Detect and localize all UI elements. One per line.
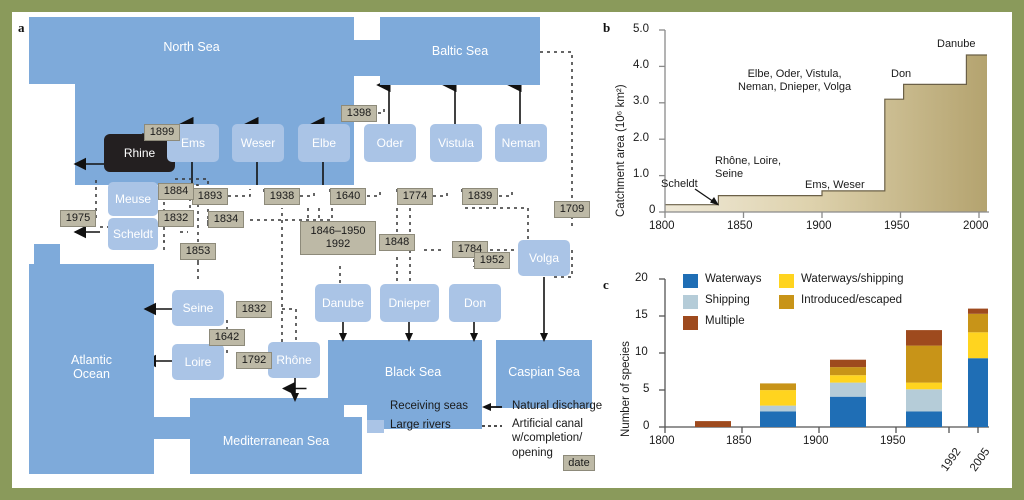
panel-a-diagram: a (12, 12, 597, 488)
sea-caspian-sea: Caspian Sea (496, 357, 592, 387)
panel-c-xtick-1900: 1900 (803, 435, 829, 447)
legend-label-natural-discharge: Natural discharge (512, 400, 602, 414)
panel-b-ytick-2: 2.0 (633, 132, 649, 144)
date-box-1938: 1938 (264, 188, 300, 205)
panel-c-xtick-1850: 1850 (726, 435, 752, 447)
date-box-1642: 1642 (209, 329, 245, 346)
panel-b-ytick-5: 5.0 (633, 23, 649, 35)
date-box-1893: 1893 (192, 188, 228, 205)
date-box-1853: 1853 (180, 243, 216, 260)
sea-black-sea: Black Sea (344, 357, 482, 387)
panel-b-ytick-0: 0 (649, 204, 655, 216)
legend-label-shipping: Shipping (705, 294, 750, 306)
panel-c-xtick-1950: 1950 (880, 435, 906, 447)
panel-b-xtick-2000: 2000 (963, 220, 989, 232)
panel-c-ytick-15: 15 (635, 309, 648, 321)
river-scheldt[interactable]: Scheldt (108, 218, 158, 250)
date-box-1899: 1899 (144, 124, 180, 141)
date-box-1848: 1848 (379, 234, 415, 251)
legend-swatch-receiving-seas (367, 401, 384, 414)
date-box-1709: 1709 (554, 201, 590, 218)
date-box-1640: 1640 (330, 188, 366, 205)
panel-b-annot-ems-weser: Ems, Weser (805, 179, 865, 192)
panel-b-xtick-1850: 1850 (727, 220, 753, 232)
panel-b-annot-danube: Danube (937, 38, 976, 51)
panel-b-annot-don: Don (891, 68, 911, 81)
date-box-1884: 1884 (158, 183, 194, 200)
river-dnieper[interactable]: Dnieper (380, 284, 439, 322)
river-seine[interactable]: Seine (172, 290, 224, 326)
river-neman[interactable]: Neman (495, 124, 547, 162)
panel-c-ytick-10: 10 (635, 346, 648, 358)
river-loire[interactable]: Loire (172, 344, 224, 380)
legend-date-chip: date (563, 455, 595, 471)
legend-label-receiving-seas: Receiving seas (390, 400, 468, 414)
legend-swatch-large-rivers (367, 420, 384, 433)
date-box-1952: 1952 (474, 252, 510, 269)
date-box-1975: 1975 (60, 210, 96, 227)
river-don[interactable]: Don (449, 284, 501, 322)
legend-swatch-introduced-escaped (779, 295, 794, 309)
river-meuse[interactable]: Meuse (108, 182, 158, 216)
panel-b-xtick-1900: 1900 (806, 220, 832, 232)
figure-canvas: a (12, 12, 1012, 488)
legend-arrow-icon (480, 400, 510, 414)
legend-label-introduced-escaped: Introduced/escaped (801, 294, 902, 306)
panel-b-ytick-1: 1.0 (633, 168, 649, 180)
panel-c-ytick-20: 20 (635, 272, 648, 284)
panel-b-xtick-1800: 1800 (649, 220, 675, 232)
panel-b-ytick-4: 4.0 (633, 59, 649, 71)
date-box-1832-rhone: 1832 (236, 301, 272, 318)
legend-swatch-multiple (683, 316, 698, 330)
date-box-1774: 1774 (397, 188, 433, 205)
sea-mediterranean-sea: Mediterranean Sea (190, 426, 362, 456)
sea-baltic-sea: Baltic Sea (380, 17, 540, 85)
panel-c-species-chart: c Number of species (597, 257, 1012, 488)
river-vistula[interactable]: Vistula (430, 124, 482, 162)
date-box-1832-scheldt: 1832 (158, 210, 194, 227)
legend-label-large-rivers: Large rivers (390, 419, 451, 433)
date-box-1834: 1834 (208, 211, 244, 228)
date-box-1398: 1398 (341, 105, 377, 122)
river-oder[interactable]: Oder (364, 124, 416, 162)
sea-north-sea: North Sea (29, 17, 354, 77)
legend-label-multiple: Multiple (705, 315, 745, 327)
panel-b-catchment-chart: b Catchment area (10⁶ km²) (597, 12, 1012, 257)
panel-b-annot-rhone-loire-seine: Rhône, Loire, Seine (715, 155, 781, 181)
river-rhone[interactable]: Rhône (268, 342, 320, 378)
legend-label-waterways-shipping: Waterways/shipping (801, 273, 903, 285)
panel-b-annot-elbe-group: Elbe, Oder, Vistula, Neman, Dnieper, Vol… (738, 68, 851, 94)
panel-c-ytick-5: 5 (643, 383, 649, 395)
river-volga[interactable]: Volga (518, 240, 570, 276)
panel-b-xtick-1950: 1950 (884, 220, 910, 232)
river-weser[interactable]: Weser (232, 124, 284, 162)
date-box-1792: 1792 (236, 352, 272, 369)
panel-c-ytick-0: 0 (643, 420, 649, 432)
date-box-1839: 1839 (462, 188, 498, 205)
legend-label-waterways: Waterways (705, 273, 761, 285)
date-box-1846-1950-1992: 1846–1950 1992 (300, 221, 376, 255)
panel-c-xtick-1800: 1800 (649, 435, 675, 447)
legend-swatch-waterways (683, 274, 698, 288)
legend-swatch-shipping (683, 295, 698, 309)
legend-dashed-line-icon (480, 419, 510, 433)
river-elbe[interactable]: Elbe (298, 124, 350, 162)
sea-atlantic-ocean: Atlantic Ocean (29, 342, 154, 392)
panel-b-ytick-3: 3.0 (633, 95, 649, 107)
legend-swatch-waterways-shipping (779, 274, 794, 288)
legend-label-artificial-canal: Artificial canal w/completion/ opening (512, 417, 583, 460)
river-danube[interactable]: Danube (315, 284, 371, 322)
panel-b-annot-scheldt: Scheldt (661, 178, 698, 191)
